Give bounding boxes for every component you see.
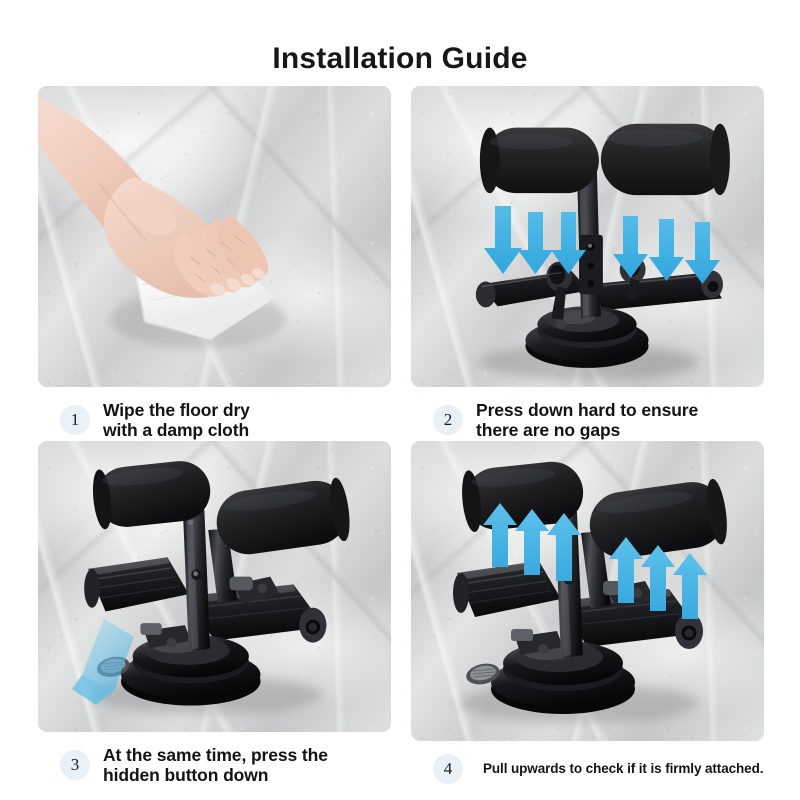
- sit-up-bar-front-illustration: [411, 86, 764, 387]
- step-card-1: 1 Wipe the floor dry with a damp cloth: [38, 86, 391, 441]
- step-2-caption-text: Press down hard to ensure there are no g…: [476, 400, 698, 441]
- sit-up-bar-angled-illustration-4: [411, 441, 764, 741]
- step-1-number-badge: 1: [60, 405, 90, 435]
- step-1-photo: [38, 86, 391, 387]
- step-card-2: 2 Press down hard to ensure there are no…: [411, 86, 764, 441]
- sit-up-bar-angled-illustration-3: [38, 441, 391, 732]
- step-4-photo: [411, 441, 764, 741]
- step-3-caption-row: 3 At the same time, press the hidden but…: [38, 732, 391, 786]
- step-2-photo: [411, 86, 764, 387]
- page-title: Installation Guide: [0, 42, 800, 76]
- step-3-photo: [38, 441, 391, 732]
- installation-steps-grid: 1 Wipe the floor dry with a damp cloth: [38, 86, 764, 786]
- step-3-caption-text: At the same time, press the hidden butto…: [103, 745, 328, 786]
- step-4-number-badge: 4: [433, 754, 463, 784]
- step-card-4: 4 Pull upwards to check if it is firmly …: [411, 441, 764, 786]
- hand-wiping-floor-illustration: [38, 86, 391, 387]
- step-4-caption-row: 4 Pull upwards to check if it is firmly …: [411, 741, 764, 784]
- step-1-caption-row: 1 Wipe the floor dry with a damp cloth: [38, 387, 391, 441]
- step-card-3: 3 At the same time, press the hidden but…: [38, 441, 391, 786]
- step-2-caption-row: 2 Press down hard to ensure there are no…: [411, 387, 764, 441]
- step-3-number-badge: 3: [60, 750, 90, 780]
- step-1-caption-text: Wipe the floor dry with a damp cloth: [103, 400, 250, 441]
- step-2-number-badge: 2: [433, 405, 463, 435]
- step-4-caption-text: Pull upwards to check if it is firmly at…: [483, 761, 763, 777]
